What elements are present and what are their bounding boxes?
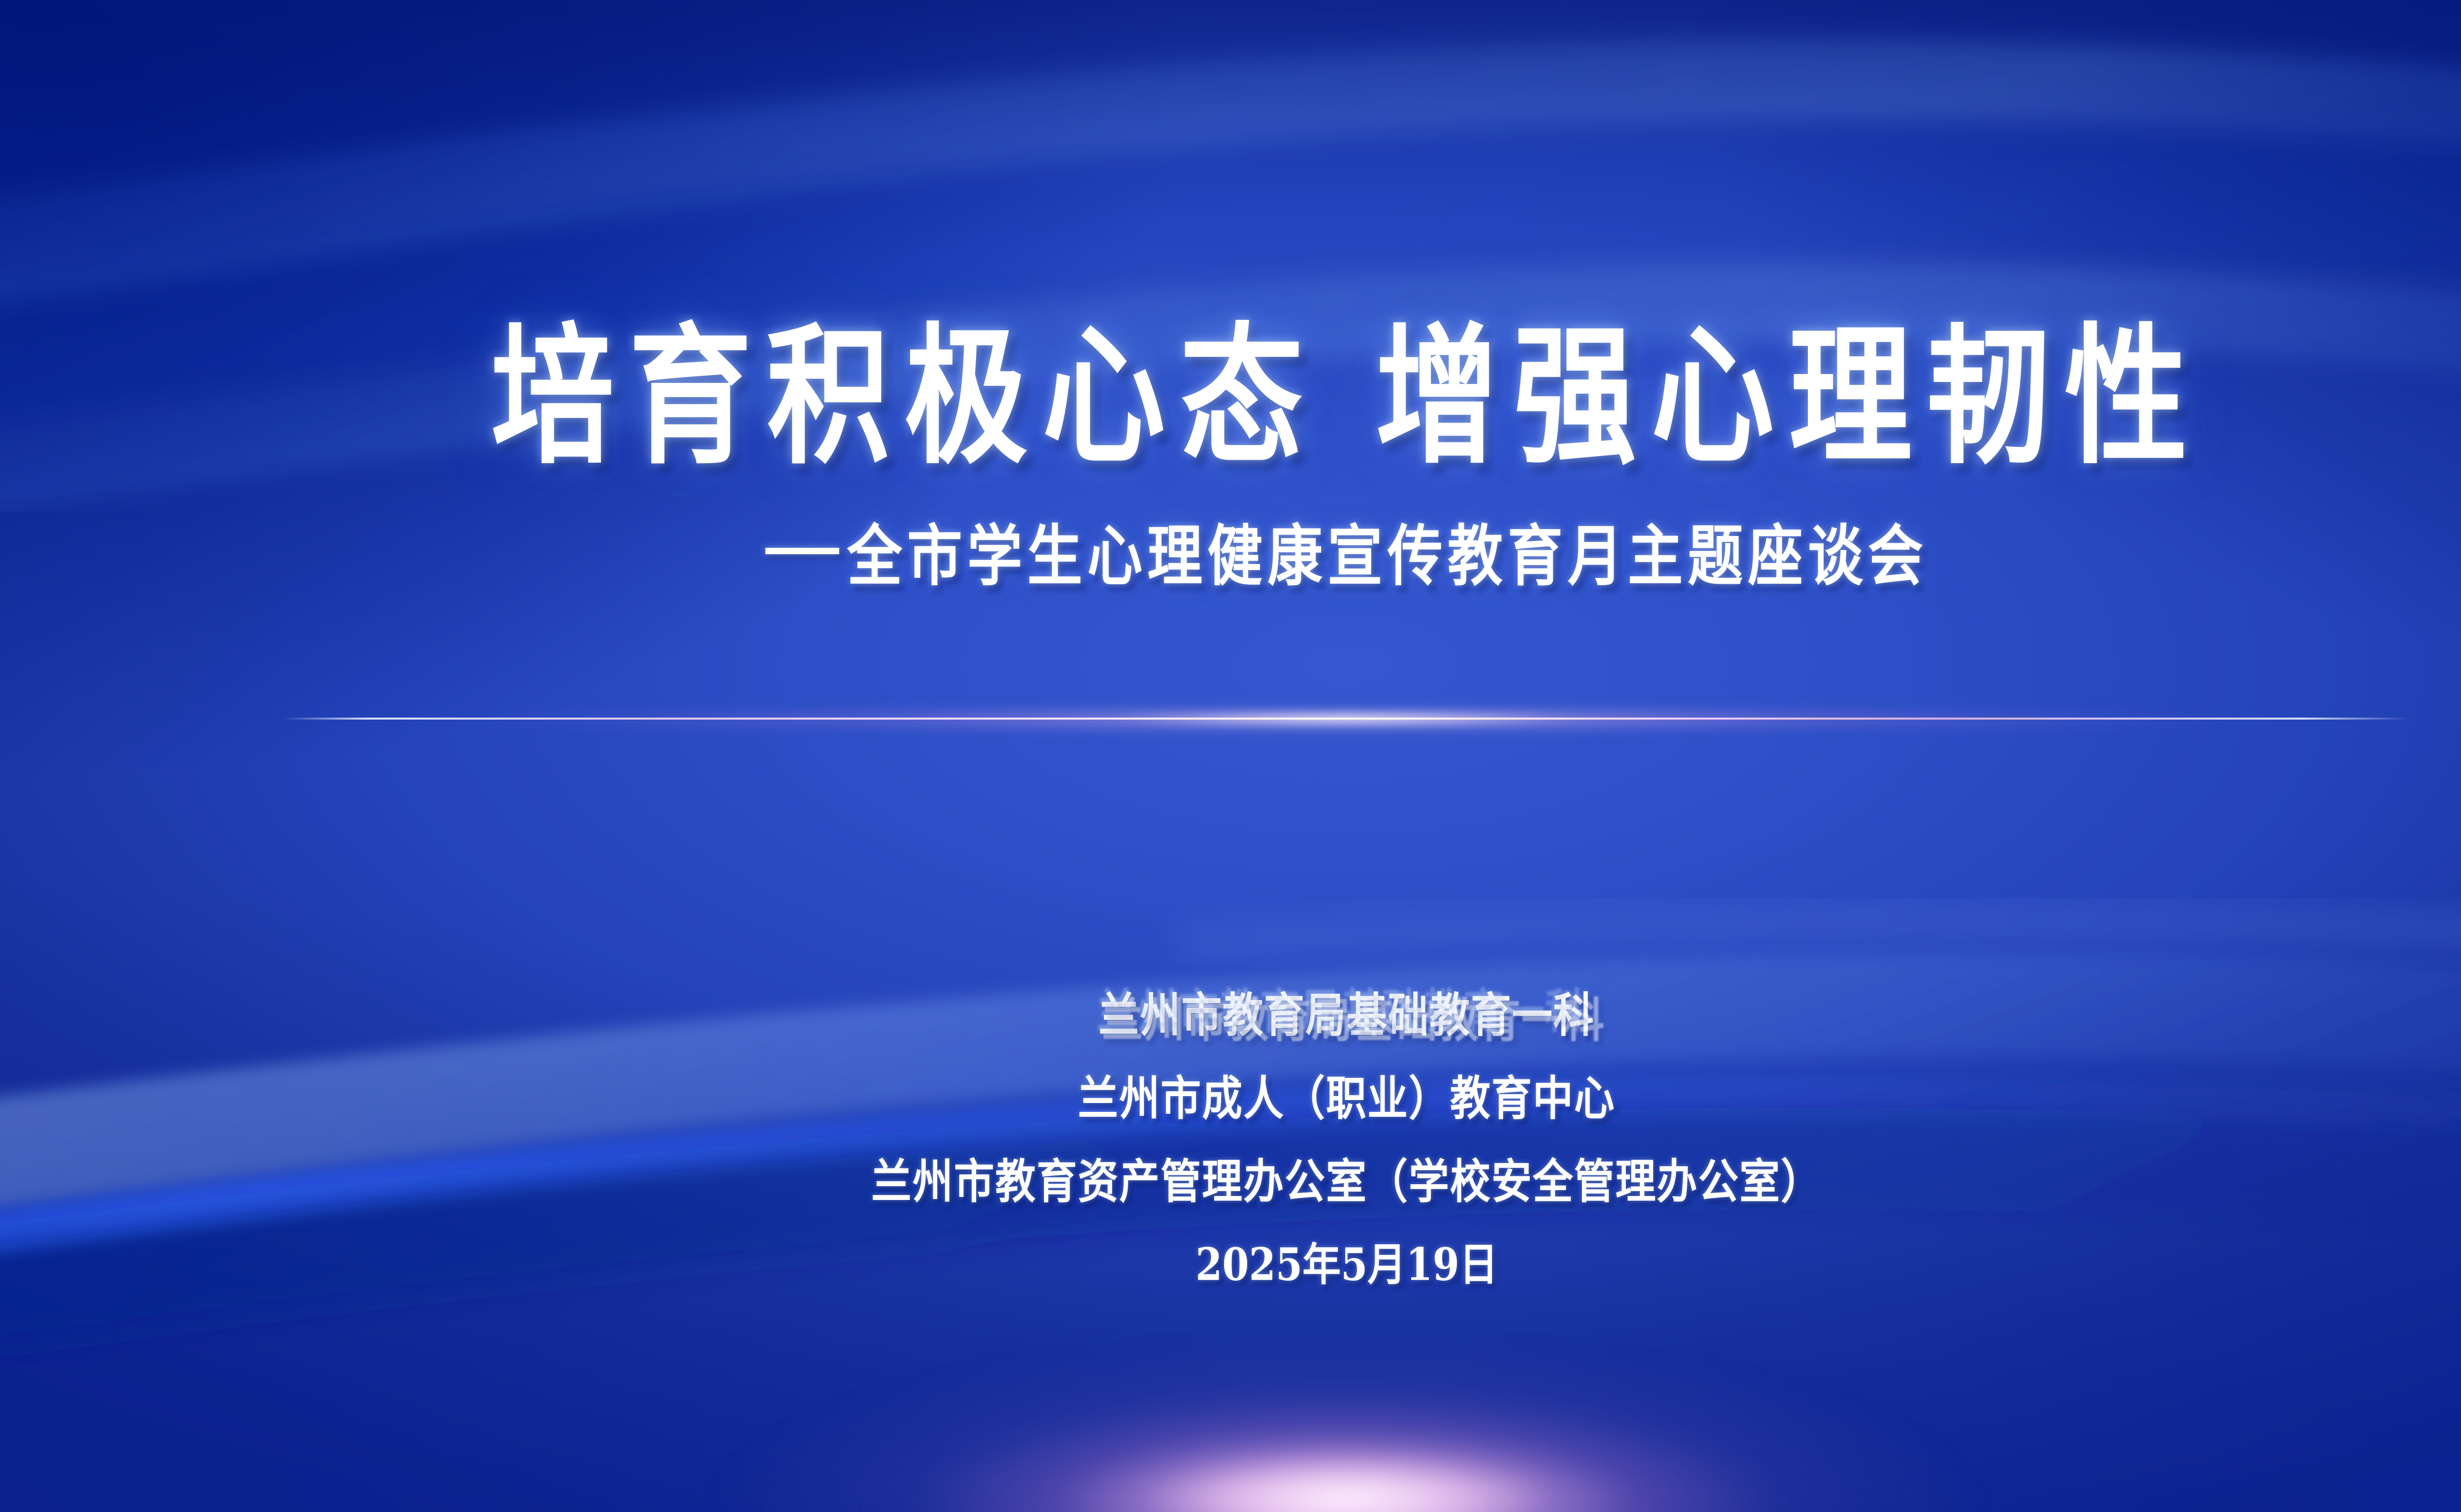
em-dash-rule bbox=[765, 548, 839, 554]
event-date: 2025年5月19日 bbox=[1196, 1229, 1498, 1293]
organizer-line-1-text: 兰州市教育局基础教育一科 bbox=[1099, 988, 1595, 1043]
organizer-line-1: 兰州市教育局基础教育一科 兰州市教育局基础教育一科 兰州市教育局基础教育一科 bbox=[1099, 977, 1595, 1045]
organizer-line-3: 兰州市教育资产管理办公室（学校安全管理办公室） bbox=[871, 1143, 1822, 1211]
organizer-block: 兰州市教育局基础教育一科 兰州市教育局基础教育一科 兰州市教育局基础教育一科 兰… bbox=[0, 982, 2461, 1289]
subtitle-row: 全市学生心理健康宣传教育月主题座谈会 bbox=[765, 511, 1928, 591]
subtitle-text: 全市学生心理健康宣传教育月主题座谈会 bbox=[847, 503, 1928, 598]
organizer-line-2: 兰州市成人（职业）教育中心 bbox=[1078, 1060, 1615, 1128]
presentation-slide: 培育积极心态 增强心理韧性 全市学生心理健康宣传教育月主题座谈会 兰州市教育局基… bbox=[0, 0, 2461, 1512]
main-title: 培育积极心态 增强心理韧性 bbox=[491, 315, 2202, 477]
